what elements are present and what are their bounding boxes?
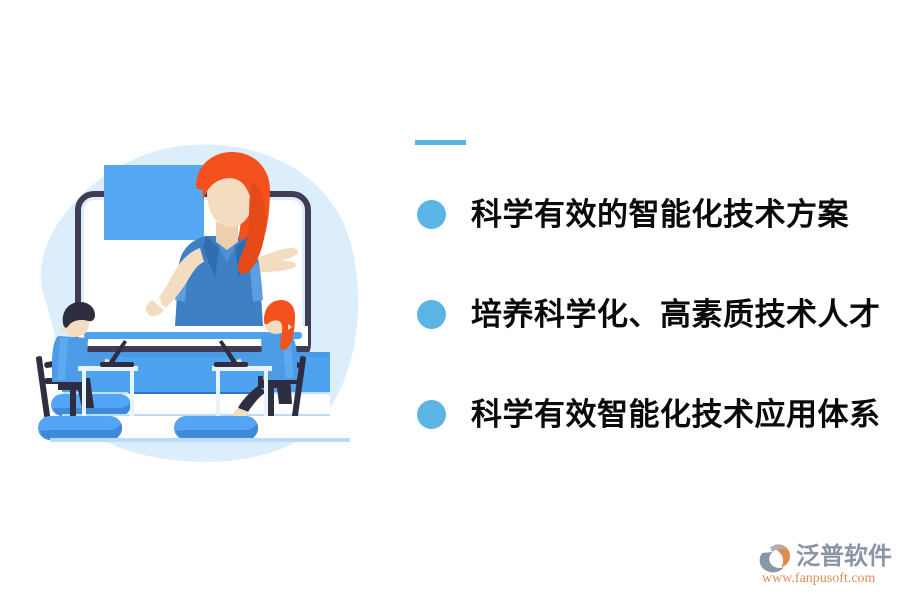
watermark-svg: 泛普软件 www.fanpusoft.com <box>756 533 894 589</box>
bullet-text-1: 科学有效的智能化技术方案 <box>471 199 900 230</box>
watermark-brand: 泛普软件 <box>796 542 892 570</box>
slide-canvas: 科学有效的智能化技术方案 培养科学化、高素质技术人才 科学有效智能化技术应用体系… <box>0 0 900 600</box>
bullet-text-3: 科学有效智能化技术应用体系 <box>471 399 900 430</box>
fanpu-logo-mark <box>760 545 790 573</box>
bullet-dot-icon <box>417 200 446 229</box>
list-item[interactable]: 科学有效的智能化技术方案 <box>414 180 900 248</box>
list-item[interactable]: 科学有效智能化技术应用体系 <box>414 380 900 448</box>
book-stack-front <box>38 416 350 442</box>
bullet-dot-icon <box>417 400 446 429</box>
online-classroom-illustration <box>0 120 400 480</box>
accent-bar <box>415 140 466 145</box>
presentation-board <box>104 165 204 240</box>
list-item[interactable]: 培养科学化、高素质技术人才 <box>414 280 900 348</box>
fanpu-software-watermark: 泛普软件 www.fanpusoft.com <box>756 533 894 589</box>
bullet-list: 科学有效的智能化技术方案 培养科学化、高素质技术人才 科学有效智能化技术应用体系 <box>414 180 900 448</box>
watermark-site: www.fanpusoft.com <box>762 571 876 586</box>
bullet-content-panel: 科学有效的智能化技术方案 培养科学化、高素质技术人才 科学有效智能化技术应用体系 <box>414 120 900 440</box>
illustration-svg <box>0 120 400 480</box>
bullet-text-2: 培养科学化、高素质技术人才 <box>471 299 900 330</box>
bullet-dot-icon <box>417 300 446 329</box>
